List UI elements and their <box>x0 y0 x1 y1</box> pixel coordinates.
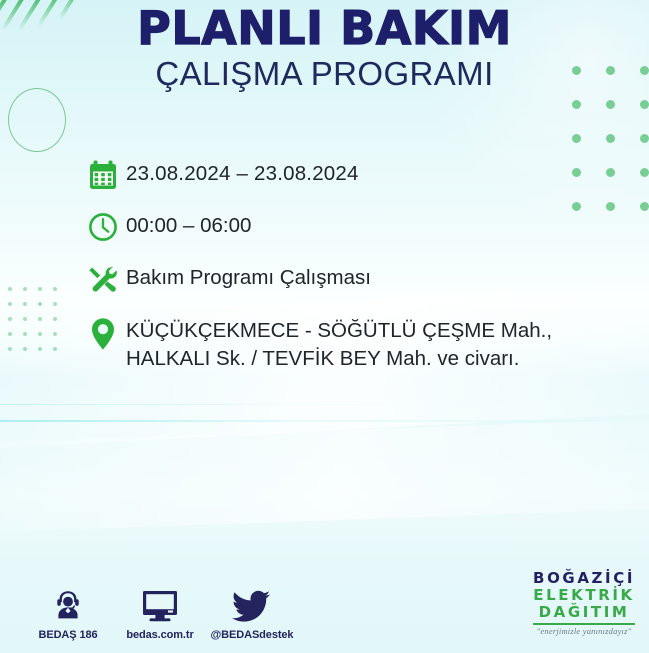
page-subtitle: ÇALIŞMA PROGRAMI <box>0 54 649 94</box>
call-center-agent-icon <box>22 583 114 623</box>
dot-grid-left-decor <box>8 287 68 362</box>
horizon-line-thin <box>0 404 649 405</box>
clock-icon <box>80 210 126 242</box>
contact-item-phone[interactable]: BEDAŞ 186 <box>22 583 114 641</box>
tools-icon <box>80 262 126 295</box>
twitter-bird-icon <box>206 583 298 623</box>
info-row-time: 00:00 – 06:00 <box>80 210 620 242</box>
contact-label-website: bedas.com.tr <box>114 629 206 641</box>
contact-item-twitter[interactable]: @BEDASdestek <box>206 583 298 641</box>
page-title: PLANLI BAKIM <box>0 4 649 52</box>
contact-label-phone: BEDAŞ 186 <box>22 629 114 641</box>
poster-header: PLANLI BAKIM ÇALIŞMA PROGRAMI <box>0 0 649 94</box>
location-pin-icon <box>80 315 126 351</box>
poster-canvas: PLANLI BAKIM ÇALIŞMA PROGRAMI 23.08.2 <box>0 0 649 653</box>
contact-list: BEDAŞ 186 bedas.com.tr <box>22 583 298 641</box>
logo-divider <box>533 623 635 625</box>
info-row-date-text: 23.08.2024 – 23.08.2024 <box>126 158 359 188</box>
logo-tagline: "enerjimizle yanınızdayız" <box>533 627 635 636</box>
bedas-logo: BOĞAZİÇİ ELEKTRİK DAĞITIM "enerjimizle y… <box>533 571 635 635</box>
info-row-work: Bakım Programı Çalışması <box>80 262 620 295</box>
info-list: 23.08.2024 – 23.08.2024 00:00 – 06:00 <box>80 158 620 374</box>
contact-label-twitter: @BEDASdestek <box>206 629 298 641</box>
info-row-time-text: 00:00 – 06:00 <box>126 210 251 240</box>
monitor-icon <box>114 583 206 623</box>
calendar-icon <box>80 158 126 190</box>
poster-footer: BEDAŞ 186 bedas.com.tr <box>0 567 649 645</box>
info-row-location-text: KÜÇÜKÇEKMECE - SÖĞÜTLÜ ÇEŞME Mah., HALKA… <box>126 315 596 374</box>
logo-line-dagitim: DAĞITIM <box>533 605 635 620</box>
logo-line-bogazici: BOĞAZİÇİ <box>533 571 635 586</box>
horizon-line <box>0 420 649 422</box>
contact-item-website[interactable]: bedas.com.tr <box>114 583 206 641</box>
info-row-work-text: Bakım Programı Çalışması <box>126 262 371 292</box>
logo-line-elektrik: ELEKTRİK <box>533 588 635 603</box>
info-row-location: KÜÇÜKÇEKMECE - SÖĞÜTLÜ ÇEŞME Mah., HALKA… <box>80 315 620 374</box>
info-row-date: 23.08.2024 – 23.08.2024 <box>80 158 620 190</box>
light-sweep-lower <box>0 416 649 534</box>
circle-outline-decor <box>8 88 66 152</box>
